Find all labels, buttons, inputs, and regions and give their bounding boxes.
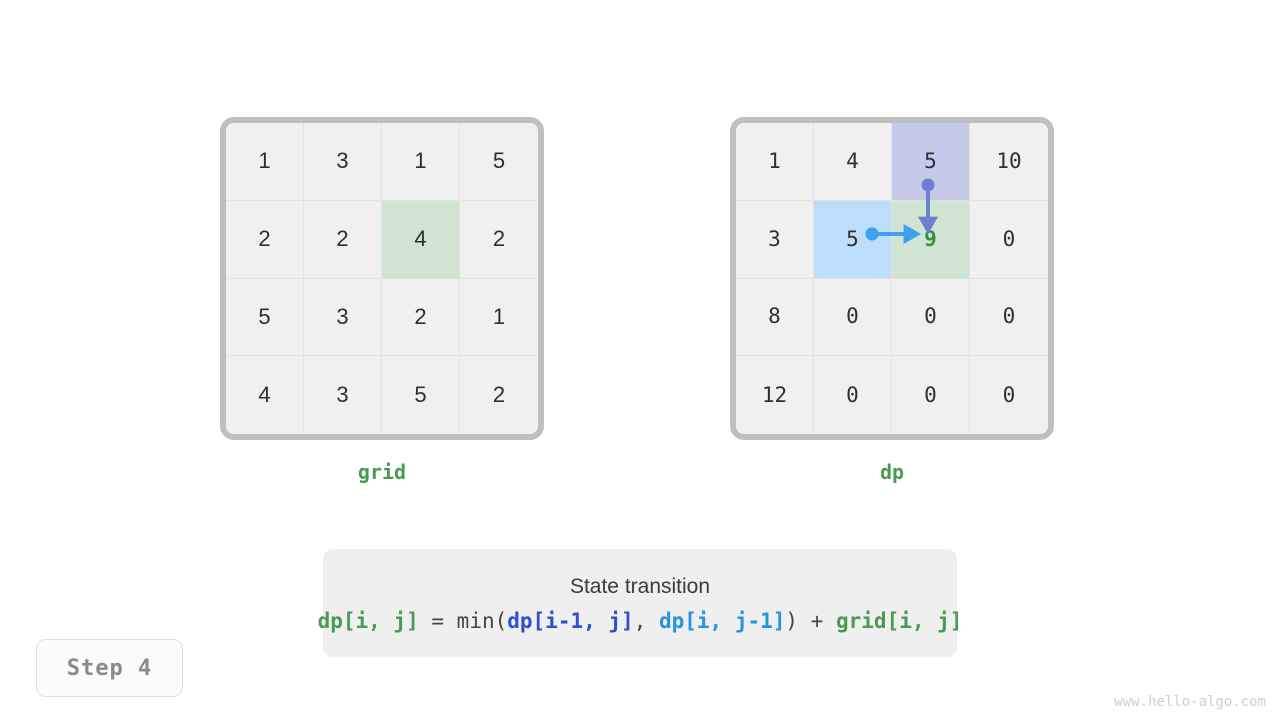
- dp-cell-value: 0: [924, 385, 937, 406]
- dp-cell-3-3: 0: [970, 356, 1048, 434]
- grid-cell-1-1: 2: [304, 201, 382, 279]
- formula-token-2: min(: [457, 609, 508, 633]
- grid-cell-value: 3: [336, 306, 348, 328]
- dp-cell-0-0: 1: [736, 123, 814, 201]
- formula-token-0: dp[i, j]: [318, 609, 419, 633]
- formula-token-4: ,: [634, 609, 659, 633]
- dp-cell-value: 12: [762, 385, 787, 406]
- grid-cell-value: 2: [258, 228, 270, 250]
- grid-cell-0-2: 1: [382, 123, 460, 201]
- grid-cell-value: 5: [414, 384, 426, 406]
- dp-cell-2-3: 0: [970, 279, 1048, 357]
- grid-cell-value: 2: [336, 228, 348, 250]
- grid-cell-value: 5: [493, 150, 505, 172]
- formula-token-1: =: [419, 609, 457, 633]
- formula-token-7: grid[i, j]: [836, 609, 962, 633]
- grid-cell-3-1: 3: [304, 356, 382, 434]
- grid-cell-0-3: 5: [460, 123, 538, 201]
- dp-caption: dp: [730, 460, 1054, 484]
- grid-cell-value: 1: [414, 150, 426, 172]
- dp-cell-3-2: 0: [892, 356, 970, 434]
- grid-cell-1-0: 2: [226, 201, 304, 279]
- dp-cell-value: 0: [846, 385, 859, 406]
- grid-cell-value: 5: [258, 306, 270, 328]
- dp-cell-1-2: 9: [892, 201, 970, 279]
- dp-cell-0-3: 10: [970, 123, 1048, 201]
- grid-cell-0-0: 1: [226, 123, 304, 201]
- grid-cell-value: 1: [493, 306, 505, 328]
- grid-cell-value: 2: [493, 228, 505, 250]
- dp-cell-3-1: 0: [814, 356, 892, 434]
- dp-cell-1-1: 5: [814, 201, 892, 279]
- dp-matrix: 145103590800012000: [730, 117, 1054, 440]
- dp-cell-value: 5: [846, 229, 859, 250]
- grid-panel: 1315224253214352 grid: [220, 117, 544, 440]
- formula-token-5: dp[i, j-1]: [659, 609, 785, 633]
- dp-cell-2-1: 0: [814, 279, 892, 357]
- dp-cell-value: 4: [846, 151, 859, 172]
- dp-cell-value: 1: [768, 151, 781, 172]
- watermark: www.hello-algo.com: [1114, 694, 1266, 710]
- grid-cell-value: 3: [336, 384, 348, 406]
- grid-cell-3-0: 4: [226, 356, 304, 434]
- dp-cell-value: 3: [768, 229, 781, 250]
- dp-cell-2-2: 0: [892, 279, 970, 357]
- dp-cell-value: 9: [924, 229, 937, 250]
- state-transition-formula: dp[i, j] = min(dp[i-1, j], dp[i, j-1]) +…: [318, 611, 963, 632]
- grid-cell-1-2: 4: [382, 201, 460, 279]
- grid-cell-2-2: 2: [382, 279, 460, 357]
- grid-cell-2-1: 3: [304, 279, 382, 357]
- grid-cell-value: 4: [414, 228, 426, 250]
- grid-cell-value: 4: [258, 384, 270, 406]
- formula-token-3: dp[i-1, j]: [507, 609, 633, 633]
- grid-cell-0-1: 3: [304, 123, 382, 201]
- grid-cell-3-3: 2: [460, 356, 538, 434]
- grid-cell-2-3: 1: [460, 279, 538, 357]
- grid-cell-value: 2: [493, 384, 505, 406]
- dp-cell-1-0: 3: [736, 201, 814, 279]
- dp-cell-value: 0: [1003, 306, 1016, 327]
- dp-cell-0-1: 4: [814, 123, 892, 201]
- step-badge: Step 4: [36, 639, 183, 697]
- dp-panel: 145103590800012000 dp: [730, 117, 1054, 440]
- dp-cell-value: 0: [846, 306, 859, 327]
- grid-cell-value: 2: [414, 306, 426, 328]
- dp-cell-1-3: 0: [970, 201, 1048, 279]
- grid-matrix: 1315224253214352: [220, 117, 544, 440]
- dp-cell-value: 0: [924, 306, 937, 327]
- state-transition-panel: State transition dp[i, j] = min(dp[i-1, …: [323, 549, 957, 657]
- grid-cell-1-3: 2: [460, 201, 538, 279]
- grid-cell-2-0: 5: [226, 279, 304, 357]
- dp-cell-value: 10: [996, 151, 1021, 172]
- dp-cell-value: 8: [768, 306, 781, 327]
- grid-caption: grid: [220, 460, 544, 484]
- formula-token-6: ) +: [785, 609, 836, 633]
- state-transition-title: State transition: [570, 575, 710, 599]
- dp-cell-0-2: 5: [892, 123, 970, 201]
- dp-cell-value: 0: [1003, 385, 1016, 406]
- dp-cell-value: 0: [1003, 229, 1016, 250]
- dp-cell-2-0: 8: [736, 279, 814, 357]
- dp-cell-value: 5: [924, 151, 937, 172]
- grid-cell-value: 1: [258, 150, 270, 172]
- grid-cell-3-2: 5: [382, 356, 460, 434]
- grid-cell-value: 3: [336, 150, 348, 172]
- dp-cell-3-0: 12: [736, 356, 814, 434]
